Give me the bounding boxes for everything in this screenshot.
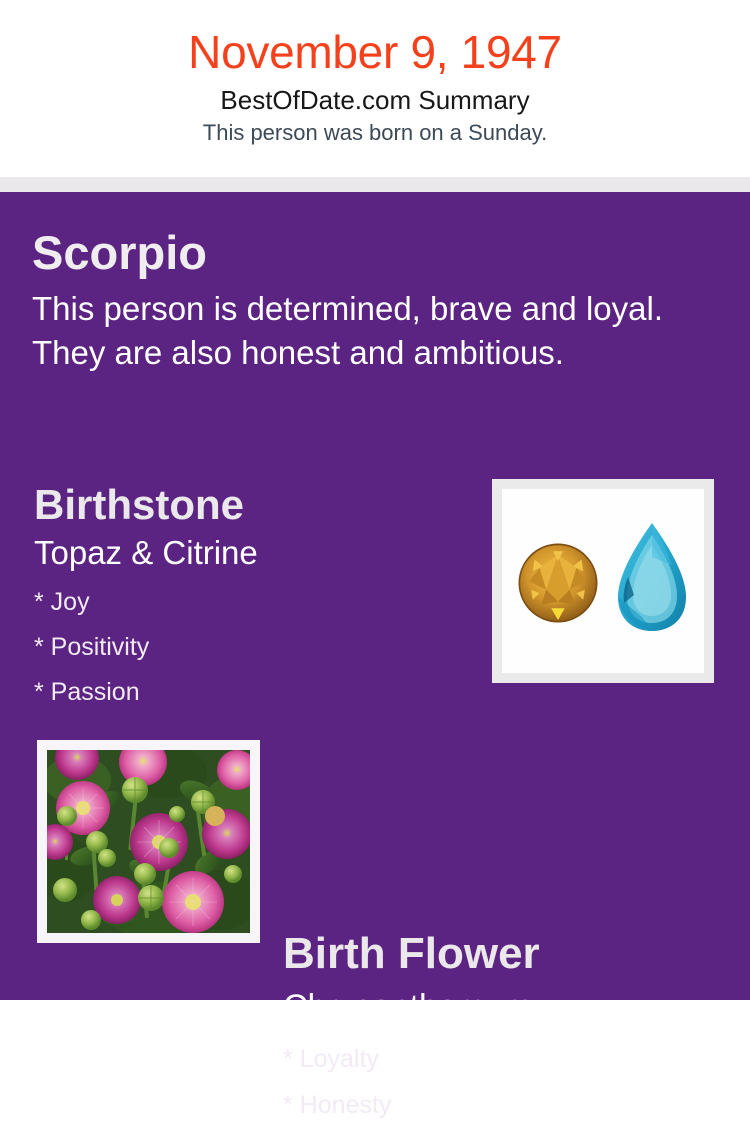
birthstone-trait-list: * Joy * Positivity * Passion (34, 574, 464, 715)
birthstone-image-frame (492, 479, 714, 683)
list-item: * Passion (34, 670, 464, 715)
birth-flower-value: Chrysanthemum (283, 982, 723, 1030)
birthstone-image (502, 489, 704, 673)
birthstone-heading: Birthstone (34, 480, 464, 530)
born-day-note: This person was born on a Sunday. (0, 116, 750, 147)
header-divider (0, 177, 750, 192)
list-item: * Joy (34, 580, 464, 625)
birth-flower-trait-list: * Loyalty * Honesty (283, 1030, 723, 1128)
page-title: November 9, 1947 (0, 0, 750, 80)
birth-flower-image (47, 750, 250, 933)
zodiac-description: This person is determined, brave and loy… (32, 281, 692, 375)
site-summary-label: BestOfDate.com Summary (0, 80, 750, 116)
blue-topaz-gem-icon (614, 521, 690, 633)
birthstone-value: Topaz & Citrine (34, 530, 464, 574)
birth-flower-image-frame (37, 740, 260, 943)
zodiac-section: Scorpio This person is determined, brave… (32, 225, 697, 375)
page-header: November 9, 1947 BestOfDate.com Summary … (0, 0, 750, 177)
list-item: * Honesty (283, 1082, 723, 1128)
citrine-gem-icon (516, 541, 600, 625)
birth-flower-heading: Birth Flower (283, 926, 723, 982)
zodiac-sign-name: Scorpio (32, 225, 697, 281)
birthstone-section: Birthstone Topaz & Citrine * Joy * Posit… (34, 480, 464, 715)
list-item: * Loyalty (283, 1036, 723, 1082)
birth-flower-section: Birth Flower Chrysanthemum * Loyalty * H… (283, 926, 723, 1128)
chrysanthemum-illustration-icon (47, 750, 250, 933)
list-item: * Positivity (34, 625, 464, 670)
summary-page: November 9, 1947 BestOfDate.com Summary … (0, 0, 750, 1000)
